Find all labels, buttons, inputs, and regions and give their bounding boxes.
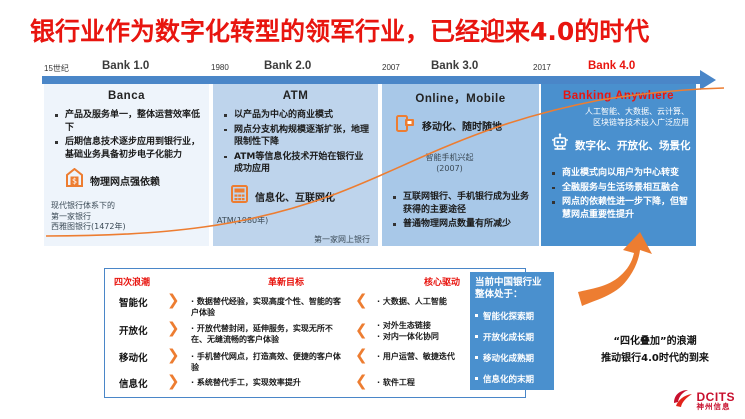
matrix-driver: 对外生态链接: [377, 320, 431, 331]
bank-house-icon: $: [66, 168, 83, 192]
era-bullets-atm: 以产品为中心的商业模式 网点分支机构规模逐渐扩张，地理限制性下降 ATM等信息化…: [221, 109, 370, 176]
current-status-box: 当前中国银行业整体处于： 智能化探索期 开放化成长期 移动化成熟期 信息化的末期: [470, 272, 554, 390]
bullet-item: 产品及服务单一，整体运营效率低下: [52, 109, 201, 134]
era-badge-label: 物理网点强依赖: [90, 173, 160, 188]
chevron-right-icon: ❯: [167, 348, 180, 363]
chevron-right-icon: ❯: [167, 374, 180, 389]
chevron-left-icon: ❮: [355, 293, 368, 308]
timeline-year-2: 1980: [211, 63, 229, 72]
bullet-item: ATM等信息化技术开始在银行业成功应用: [221, 151, 370, 176]
era-heading-banca: Banca: [44, 84, 209, 102]
matrix-goal: 数据替代经验，实现高度个性、智能的客户体验: [191, 296, 346, 318]
matrix-driver: 用户运营、敏捷迭代: [377, 351, 455, 362]
era-bullets-online: 互联网银行、手机银行成为业务获得的主要途径 普通物理网点数量有所减少: [390, 191, 531, 231]
four-waves-matrix: 四次浪潮 革新目标 核心驱动 智能化 ❯ 数据替代经验，实现高度个性、智能的客户…: [104, 268, 526, 398]
era-badge-banca: $ 物理网点强依赖: [66, 168, 209, 192]
era-note-atm-right: 第一家网上银行 SFNB(1995): [213, 235, 370, 246]
chevron-right-icon: ❯: [167, 321, 180, 336]
status-heading: 当前中国银行业整体处于：: [470, 272, 554, 301]
era-badge-label: 数字化、开放化、场景化: [575, 138, 691, 153]
matrix-driver: 对内一体化协同: [377, 331, 439, 342]
bullet-item: 网点的依赖性进一步下降，但智慧网点重要性提升: [549, 196, 688, 221]
chevron-left-icon: ❮: [355, 348, 368, 363]
svg-text:$: $: [72, 177, 77, 186]
bullet-item: 以产品为中心的商业模式: [221, 109, 370, 122]
matrix-header-drivers: 核心驱动: [424, 275, 460, 288]
timeline: 15世纪 Bank 1.0 1980 Bank 2.0 2007 Bank 3.…: [42, 60, 732, 82]
timeline-label-bank2: Bank 2.0: [264, 60, 311, 72]
era-column-online-mobile: Online，Mobile 移动化、随时随地 智能手机兴起 (2007) 互联网…: [382, 84, 539, 246]
era-badge-online: 移动化、随时随地: [396, 114, 539, 137]
conclusion-text: “四化叠加”的浪潮 推动银行4.0时代的到来: [575, 333, 735, 367]
era-heading-banking-anywhere: Banking Anywhere: [541, 84, 696, 102]
matrix-header-goals: 革新目标: [268, 275, 304, 288]
bullet-item: 全融服务与生活场景相互融合: [549, 182, 688, 195]
bullet-item: 商业模式向以用户为中心转变: [549, 167, 688, 180]
robot-icon: [550, 133, 570, 157]
matrix-wave-label: 智能化: [119, 295, 148, 309]
chevron-left-icon: ❮: [355, 323, 368, 338]
era-badge-atm: 信息化、互联网化: [231, 185, 378, 208]
dcits-swoosh-icon: [672, 389, 694, 413]
status-item: 移动化成熟期: [470, 352, 554, 364]
matrix-goal: 系统替代手工，实现效率提升: [191, 377, 346, 388]
mobile-phone-icon: [396, 114, 415, 137]
timeline-year-3: 2007: [382, 63, 400, 72]
matrix-driver: 大数据、人工智能: [377, 296, 447, 307]
era-heading-online-mobile: Online，Mobile: [382, 84, 539, 106]
matrix-wave-label: 移动化: [119, 350, 148, 364]
era-note-banca: 现代银行体系下的 第一家银行 西雅图银行(1472年): [51, 201, 209, 233]
timeline-label-bank1: Bank 1.0: [102, 60, 149, 72]
company-logo: DCITS 神州信息: [672, 389, 736, 413]
era-badge-banking: 数字化、开放化、场景化: [550, 133, 696, 157]
era-subnote-banking-anywhere: 人工智能、大数据、云计算、 区块链等技术投入广泛应用: [541, 107, 689, 128]
page-title: 银行业作为数字化转型的领军行业，已经迎来4.0的时代: [30, 12, 649, 48]
era-column-banking-anywhere: Banking Anywhere 人工智能、大数据、云计算、 区块链等技术投入广…: [541, 84, 696, 246]
slide-root: 银行业作为数字化转型的领军行业，已经迎来4.0的时代 15世纪 Bank 1.0…: [0, 0, 745, 419]
atm-machine-icon: [231, 185, 248, 208]
era-note-atm-left: ATM(1980年): [217, 216, 378, 227]
bullet-item: 后期信息技术逐步应用到银行业，基础业务具备初步电子化能力: [52, 136, 201, 161]
era-column-banca: Banca 产品及服务单一，整体运营效率低下 后期信息技术逐步应用到银行业，基础…: [44, 84, 209, 246]
era-note-online: 智能手机兴起 (2007): [382, 153, 517, 174]
era-heading-atm: ATM: [213, 84, 378, 102]
conclusion-line-2: 推动银行4.0时代的到来: [575, 350, 735, 367]
conclusion-line-1: “四化叠加”的浪潮: [575, 333, 735, 350]
chevron-right-icon: ❯: [167, 293, 180, 308]
bullet-item: 普通物理网点数量有所减少: [390, 218, 531, 231]
timeline-arrow-icon: [700, 70, 716, 90]
timeline-year-1: 15世纪: [44, 63, 69, 74]
status-item: 开放化成长期: [470, 331, 554, 343]
era-column-atm: ATM 以产品为中心的商业模式 网点分支机构规模逐渐扩张，地理限制性下降 ATM…: [213, 84, 378, 246]
timeline-label-bank4: Bank 4.0: [588, 60, 635, 72]
matrix-header-waves: 四次浪潮: [114, 275, 150, 288]
logo-sub-text: 神州信息: [697, 403, 736, 411]
era-bullets-banca: 产品及服务单一，整体运营效率低下 后期信息技术逐步应用到银行业，基础业务具备初步…: [52, 109, 201, 161]
timeline-year-4: 2017: [533, 63, 551, 72]
logo-text: DCITS 神州信息: [697, 391, 736, 411]
timeline-label-bank3: Bank 3.0: [431, 60, 478, 72]
era-bullets-banking: 商业模式向以用户为中心转变 全融服务与生活场景相互融合 网点的依赖性进一步下降，…: [549, 167, 688, 221]
matrix-driver: 软件工程: [377, 377, 415, 388]
matrix-wave-label: 信息化: [119, 376, 148, 390]
chevron-left-icon: ❮: [355, 374, 368, 389]
era-badge-label: 移动化、随时随地: [422, 118, 502, 133]
bullet-item: 网点分支机构规模逐渐扩张，地理限制性下降: [221, 124, 370, 149]
matrix-wave-label: 开放化: [119, 323, 148, 337]
status-item: 信息化的末期: [470, 373, 554, 385]
status-item: 智能化探索期: [470, 310, 554, 322]
matrix-goal: 手机替代网点，打造高效、便捷的客户体验: [191, 351, 346, 373]
era-badge-label: 信息化、互联网化: [255, 189, 335, 204]
bullet-item: 互联网银行、手机银行成为业务获得的主要途径: [390, 191, 531, 216]
timeline-bar: [42, 76, 702, 84]
matrix-goal: 开放代替封闭，延伸服务，实现无所不在、无缝流畅的客户体验: [191, 323, 346, 345]
